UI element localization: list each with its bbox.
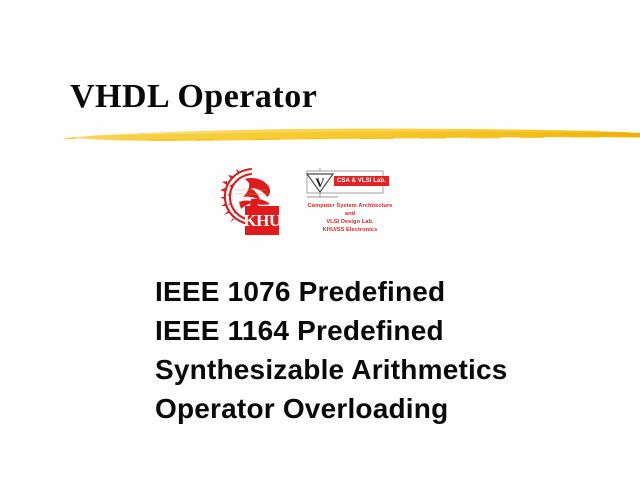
csa-caption-line-2: and [298,210,402,218]
csa-vlsi-lab-logo: V CSA & VLSI Lab. Computer System Archit… [298,168,420,240]
khu-university-logo: KHU [221,166,281,236]
slide-title: VHDL Operator [70,78,317,116]
logo-row: KHU V CSA & [221,166,421,242]
body-line-synthesizable-arithmetics: Synthesizable Arithmetics [155,350,615,389]
khu-wordmark-text: KHU [243,212,280,229]
csa-lab-caption: Computer System Architecture and VLSI De… [298,202,402,234]
yellow-brushstroke-divider [0,118,640,152]
body-line-ieee-1164: IEEE 1164 Predefined [155,311,615,350]
khu-wordmark-block: KHU [245,206,279,235]
csa-lab-badge: CSA & VLSI Lab. [334,176,389,186]
body-line-ieee-1076: IEEE 1076 Predefined [155,272,615,311]
csa-caption-line-3: VLSI Design Lab. [298,218,402,226]
v-glyph: V [307,174,333,192]
csa-caption-line-4: KHU/SS Electronics [298,226,402,234]
csa-caption-line-1: Computer System Architecture [298,202,402,210]
slide-body-list: IEEE 1076 Predefined IEEE 1164 Predefine… [155,272,615,428]
csa-chip-mark: V CSA & VLSI Lab. [298,168,402,200]
svg-text:V: V [315,175,325,190]
body-line-operator-overloading: Operator Overloading [155,389,615,428]
presentation-slide: VHDL Operator [0,0,640,480]
